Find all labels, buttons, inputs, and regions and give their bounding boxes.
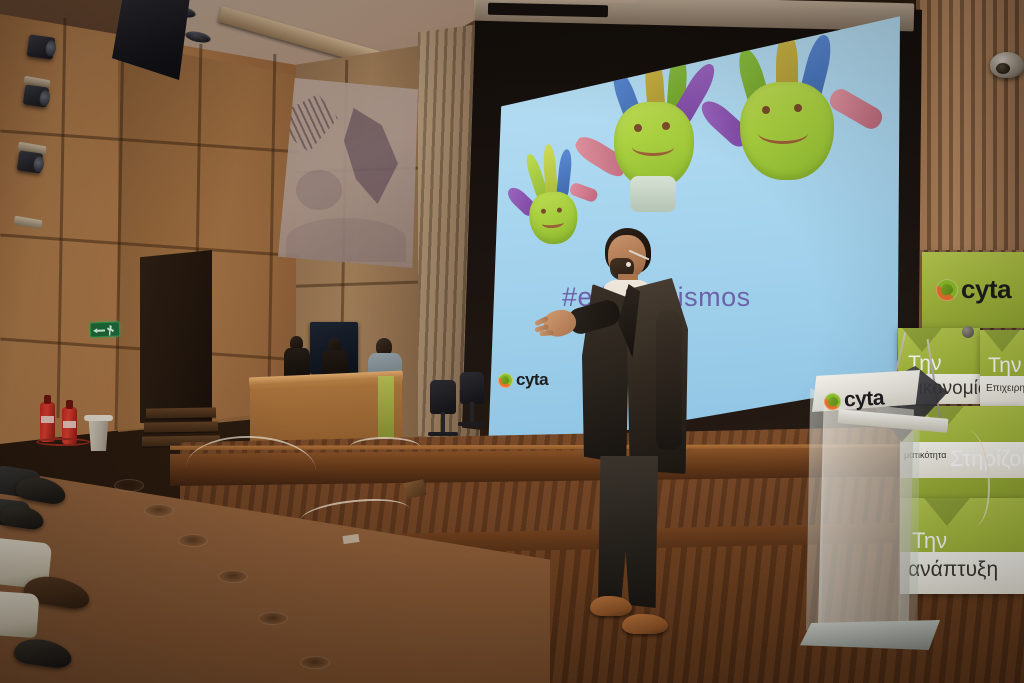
handprint-eye: [662, 122, 670, 130]
mural-arc-shape: [286, 218, 406, 262]
banner-label-bottom: Επιχειρηματικότητα: [986, 383, 1024, 394]
panel-table-side-panel: [378, 376, 394, 440]
extinguisher-base-ring: [36, 438, 90, 446]
fire-extinguisher-stand: [36, 390, 90, 446]
cyta-mark-icon: [936, 279, 958, 301]
presenter-trousers: [598, 456, 658, 608]
cyta-mark-icon: [498, 373, 513, 388]
arrow-left-icon: [93, 328, 105, 333]
cyta-wordmark: cyta: [843, 386, 884, 412]
handprint-eye: [634, 124, 642, 132]
projection-screen-housing-bracket: [488, 3, 608, 18]
cyta-wordmark: cyta: [516, 370, 548, 390]
floor-cable: [350, 437, 420, 457]
fire-extinguisher-icon: [40, 402, 55, 442]
banner-chevron: [984, 330, 1020, 352]
bucket: [86, 418, 111, 451]
handprint-mouth: [758, 122, 808, 144]
floor-vent: [114, 479, 144, 492]
microphone-head-icon: [962, 326, 974, 338]
office-chair: [430, 380, 456, 414]
stair-step: [146, 407, 216, 418]
exit-sign: [90, 321, 121, 337]
chair-base: [428, 432, 458, 436]
stage-light-icon: [27, 34, 56, 59]
banner-entrepreneurship: Την Επιχειρηματικότητα: [980, 330, 1024, 406]
chair-base: [458, 422, 486, 426]
floor-vent: [144, 504, 174, 517]
cyta-mark-icon: [824, 392, 842, 410]
wall-mural: [278, 78, 418, 268]
mural-wing-shape: [286, 94, 338, 152]
presenter-arm-right: [656, 310, 682, 450]
podium-front-panel: [818, 400, 914, 638]
banner-chevron: [902, 328, 942, 352]
banner-label-top: Την: [988, 354, 1021, 378]
slide-cyta-logo: cyta: [498, 370, 548, 390]
podium-base-plate: [800, 620, 940, 650]
floor-vent: [178, 534, 208, 547]
bucket-lid: [84, 415, 113, 421]
banner-cyta-logo: cyta: [922, 252, 1024, 328]
stage-light-icon: [17, 150, 44, 173]
presenter-shoe-right: [622, 614, 668, 634]
doorway: [140, 250, 212, 430]
office-chair: [460, 372, 484, 404]
podium-cyta-logo: cyta: [823, 386, 884, 413]
handprint-finger: [826, 85, 885, 132]
microphone-capsule-icon: [626, 262, 631, 267]
chair-post: [441, 412, 445, 434]
mural-circle-shape: [296, 170, 342, 210]
handprint-wrist: [630, 176, 676, 212]
banner-label-bottom: ανάπτυξη: [908, 558, 998, 582]
chair-post: [470, 402, 474, 424]
security-camera-icon: [990, 52, 1024, 78]
presenter: [560, 228, 690, 644]
presenter-shoe-left: [590, 596, 632, 616]
conference-hall-scene: #ethelontismos cyta: [0, 0, 1024, 683]
handprint-eye: [794, 104, 802, 112]
handprint-eye: [762, 106, 770, 114]
cyta-wordmark: cyta: [961, 274, 1011, 305]
handprint-mouth: [632, 138, 674, 156]
floor-vent: [300, 656, 330, 669]
stair-step: [144, 421, 218, 432]
audience-trouser-light: [0, 590, 39, 638]
banner-cyta-logo-lockup: cyta: [936, 274, 1011, 305]
floor-vent: [218, 570, 248, 583]
floor-vent: [258, 612, 288, 625]
mural-bird-shape: [344, 108, 398, 204]
stage-light-icon: [23, 84, 50, 107]
running-person-icon: [107, 325, 114, 336]
